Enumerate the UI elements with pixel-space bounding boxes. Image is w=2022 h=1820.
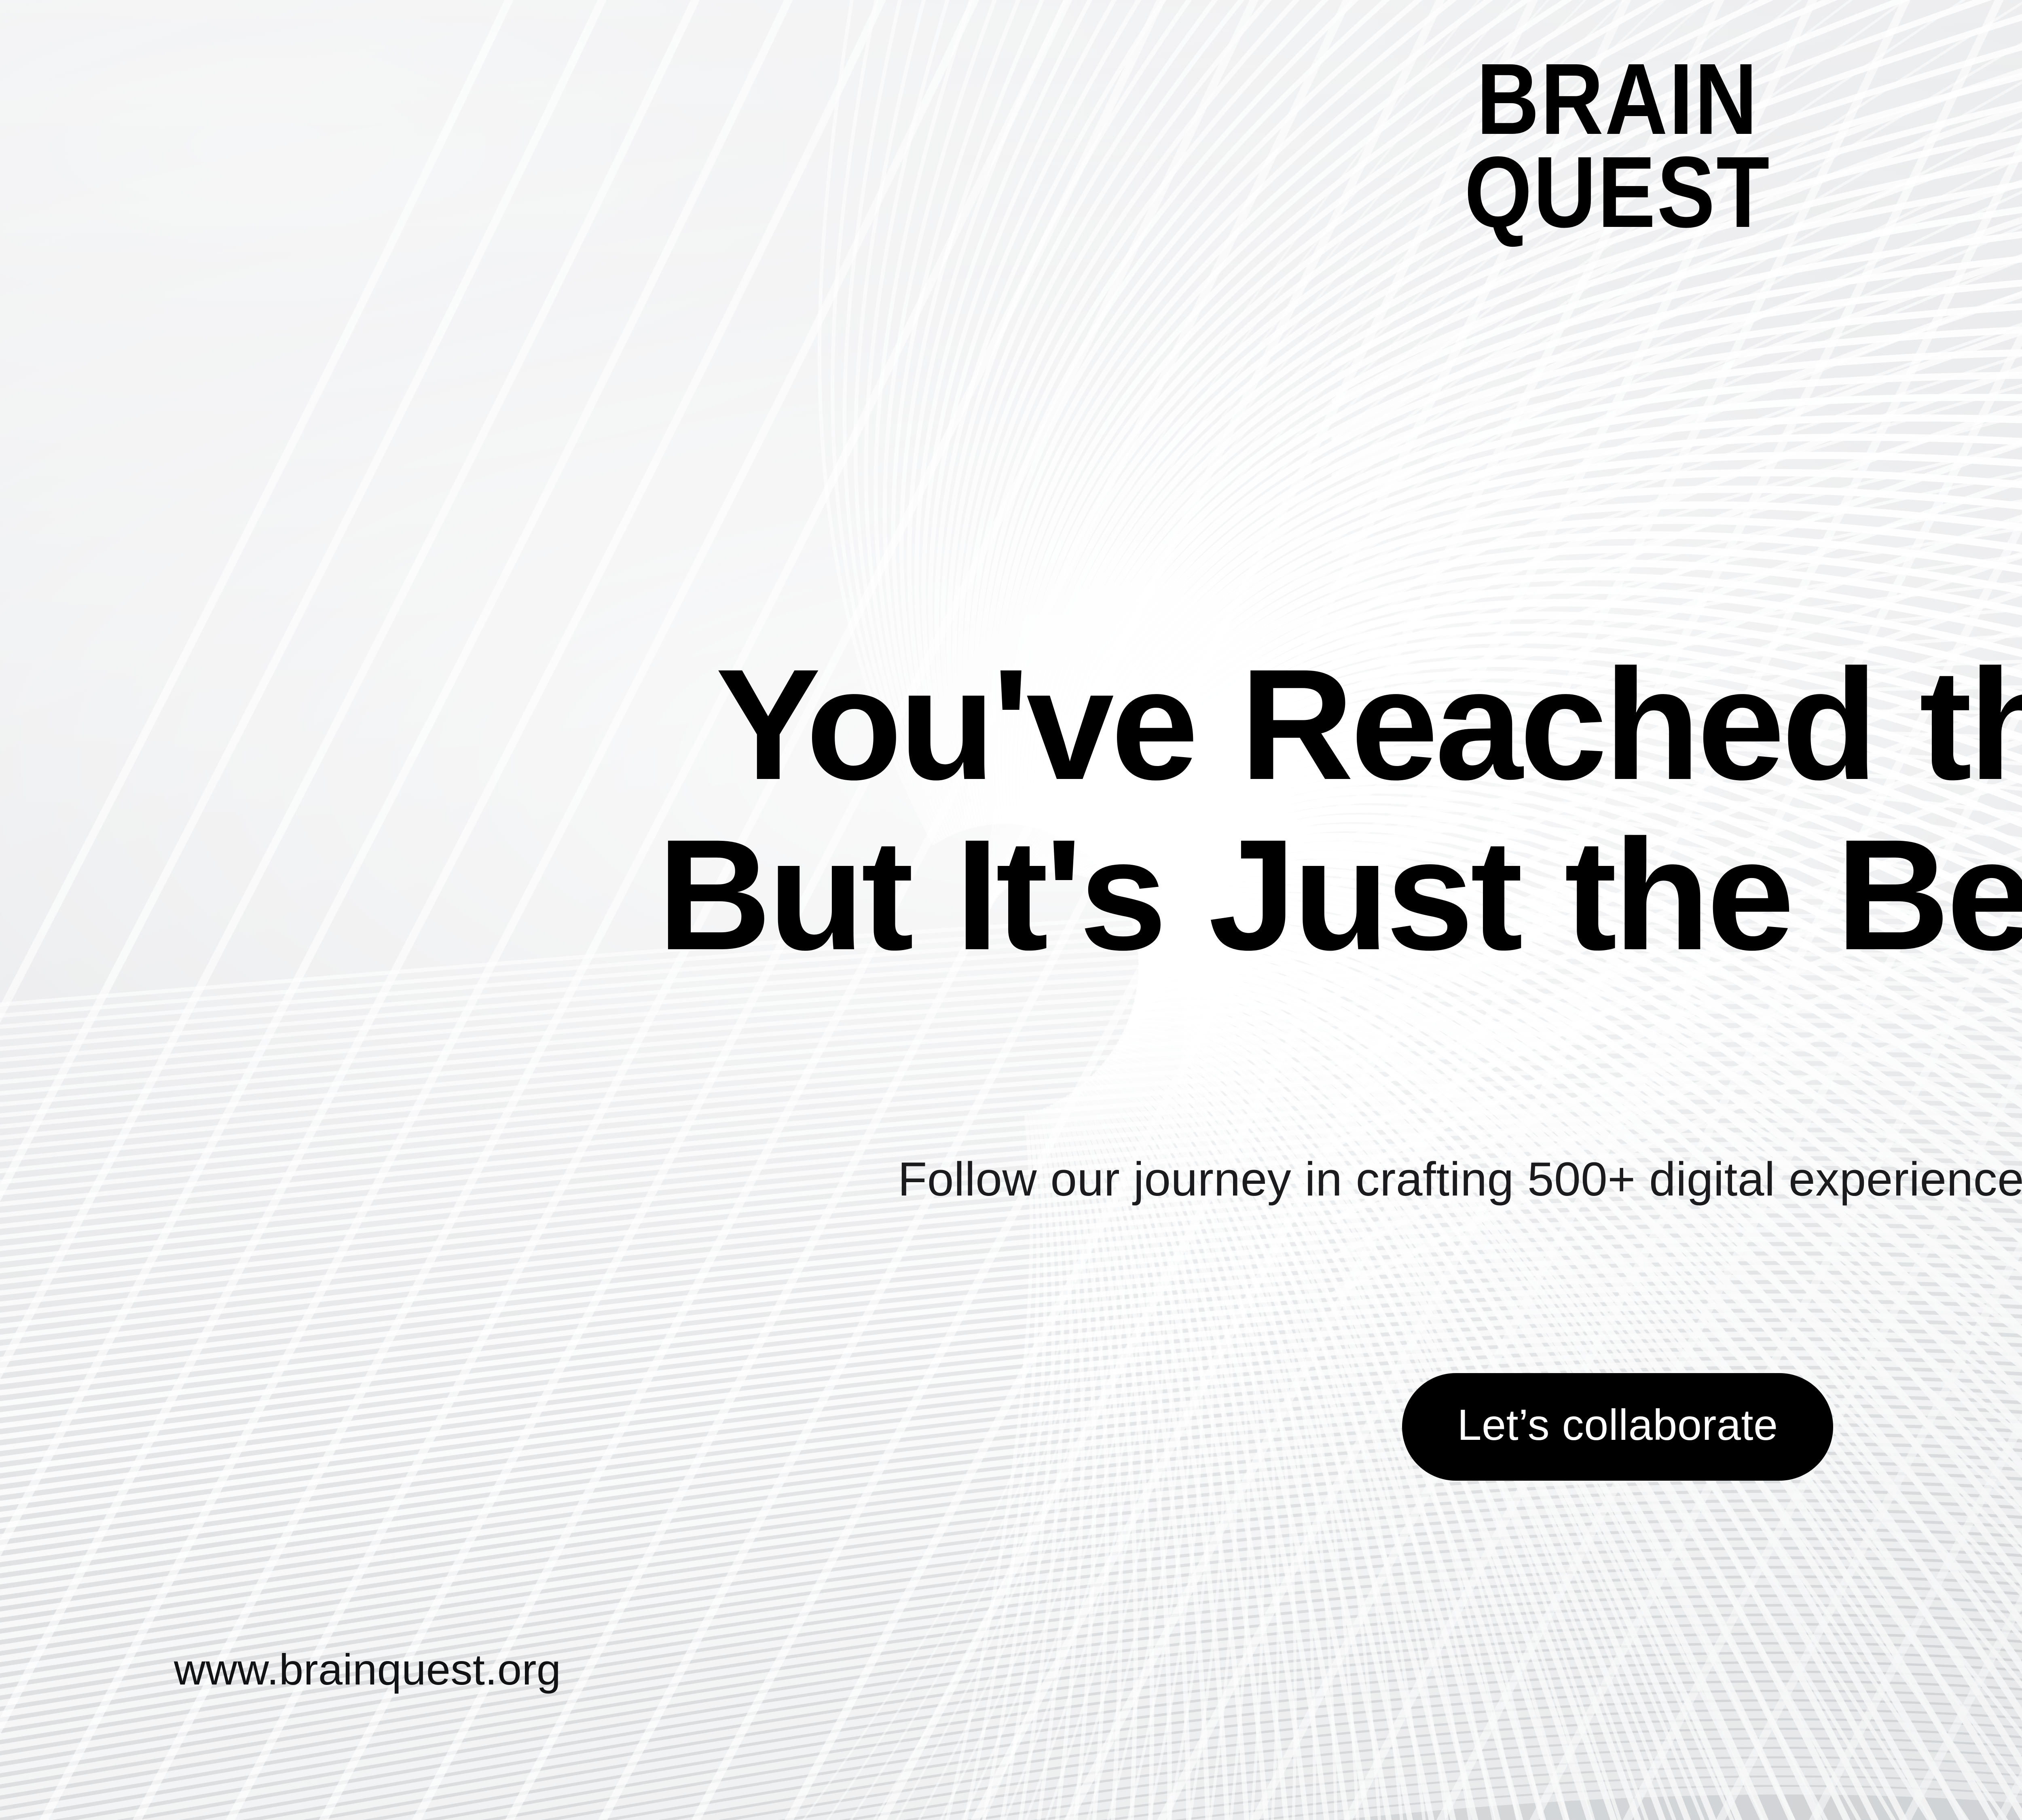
cta-container: Let’s collaborate [0, 1373, 2022, 1481]
thank-you-slide: BRAIN QUEST You've Reached the End, But … [0, 0, 2022, 1820]
brand-logo: BRAIN QUEST [226, 53, 2022, 239]
page-title: You've Reached the End, But It's Just th… [0, 639, 2022, 980]
lets-collaborate-button[interactable]: Let’s collaborate [1402, 1373, 1833, 1481]
headline-line-1: You've Reached the End, [0, 639, 2022, 810]
logo-line-quest: QUEST [226, 146, 2022, 239]
logo-line-brain: BRAIN [226, 53, 2022, 146]
slide-content: BRAIN QUEST You've Reached the End, But … [0, 0, 2022, 1820]
website-link[interactable]: www.brainquest.org [174, 1644, 561, 1695]
headline-line-2: But It's Just the Beginning [0, 810, 2022, 980]
subtitle-text: Follow our journey in crafting 500+ digi… [0, 1152, 2022, 1207]
